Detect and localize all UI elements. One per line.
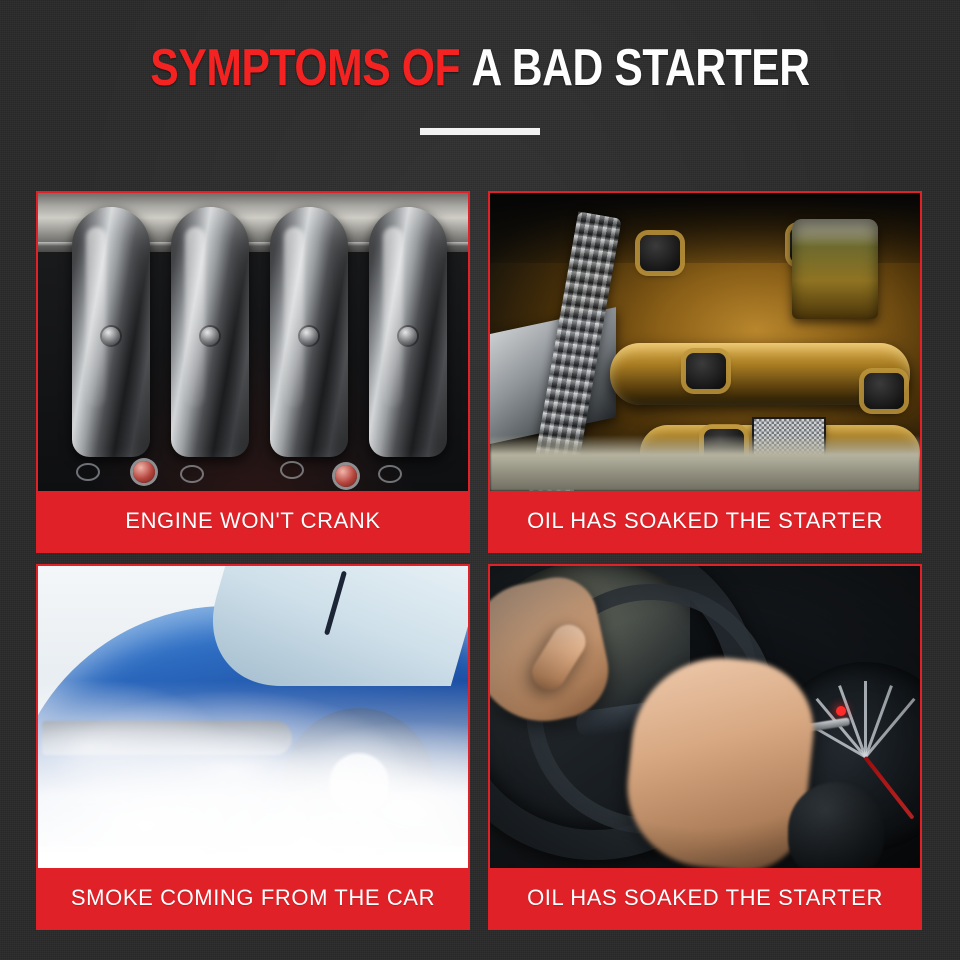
bearing-cap-bolt xyxy=(686,353,726,389)
symptom-card-grid: ENGINE WON'T CRANK OIL HAS SOAKED THE ST… xyxy=(36,191,922,930)
title-divider-rule xyxy=(420,128,540,135)
symptom-card-smoke-from-car[interactable]: SMOKE COMING FROM THE CAR xyxy=(36,564,470,930)
symptom-card-engine-wont-crank[interactable]: ENGINE WON'T CRANK xyxy=(36,191,470,553)
photo-oily-camshaft xyxy=(490,193,920,491)
smoke-cloud xyxy=(38,566,468,868)
bearing-cap-bolt xyxy=(864,373,904,409)
bearing-cap-bolt xyxy=(640,235,680,271)
manifold-runner xyxy=(270,207,348,457)
manifold-ring xyxy=(180,465,204,483)
photo-intake-manifold xyxy=(38,193,468,491)
cylinder-head-edge xyxy=(490,435,920,491)
card-caption: ENGINE WON'T CRANK xyxy=(38,491,468,551)
symptom-card-oil-soaked-starter-top[interactable]: OIL HAS SOAKED THE STARTER xyxy=(488,191,922,553)
photo-vignette xyxy=(490,566,920,868)
page-title-red: SYMPTOMS OF xyxy=(150,39,460,97)
manifold-bolt-cap xyxy=(133,461,155,483)
manifold-ring xyxy=(280,461,304,479)
oil-filled-cylinder xyxy=(792,219,878,319)
page-title: SYMPTOMS OF A BAD STARTER xyxy=(86,40,873,96)
page-header: SYMPTOMS OF A BAD STARTER xyxy=(0,0,960,170)
card-caption: SMOKE COMING FROM THE CAR xyxy=(38,868,468,928)
symptom-card-oil-soaked-starter-bottom[interactable]: OIL HAS SOAKED THE STARTER xyxy=(488,564,922,930)
manifold-runner xyxy=(369,207,447,457)
card-caption: OIL HAS SOAKED THE STARTER xyxy=(490,491,920,551)
manifold-bolt-cap xyxy=(335,465,357,487)
photo-driver-ignition xyxy=(490,566,920,868)
page-title-white: A BAD STARTER xyxy=(472,39,810,97)
manifold-runner xyxy=(72,207,150,457)
manifold-runner xyxy=(171,207,249,457)
manifold-ring xyxy=(76,463,100,481)
manifold-ring xyxy=(378,465,402,483)
infographic-page: SYMPTOMS OF A BAD STARTER ENGINE WON'T C… xyxy=(0,0,960,960)
card-caption: OIL HAS SOAKED THE STARTER xyxy=(490,868,920,928)
photo-smoking-car xyxy=(38,566,468,868)
